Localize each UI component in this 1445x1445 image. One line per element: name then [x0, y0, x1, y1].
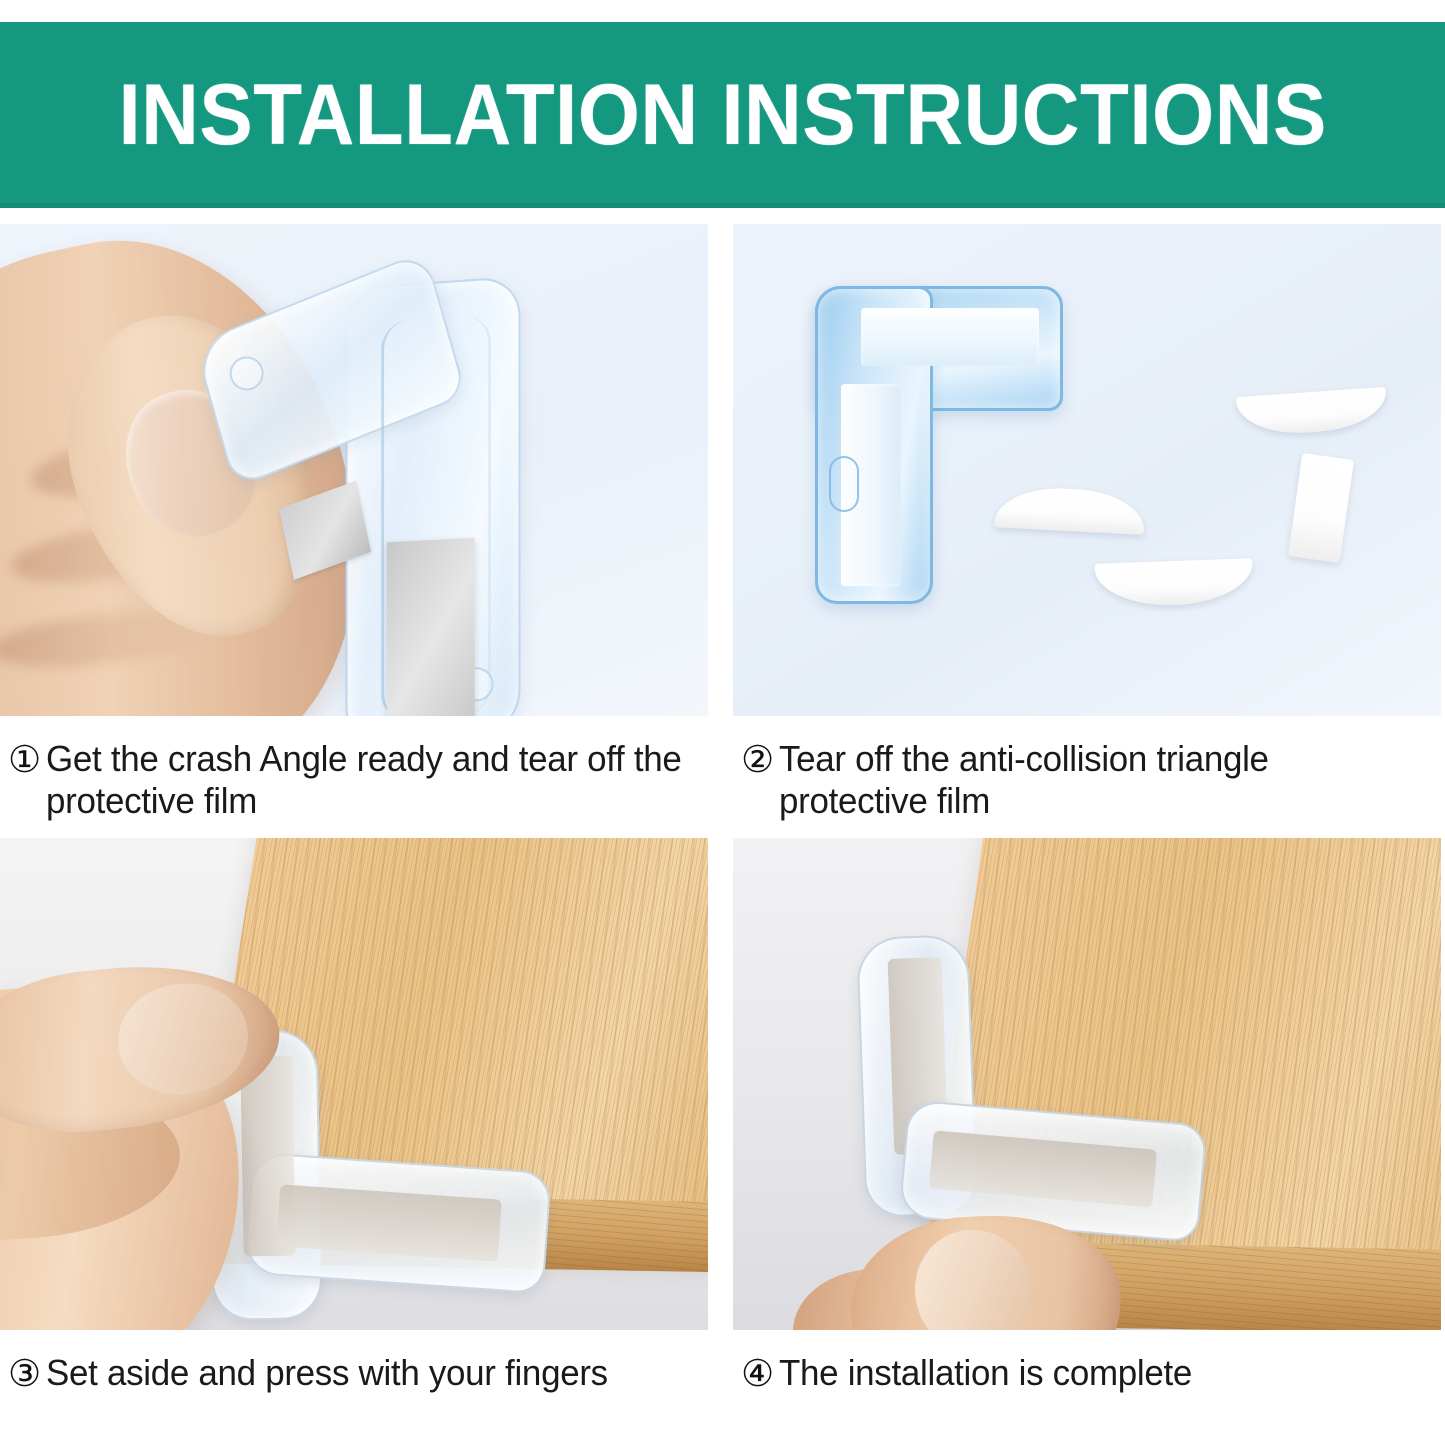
installed-corner-guard [861, 936, 1221, 1256]
step-number-1: ① [8, 738, 41, 782]
step-number-4: ④ [741, 1352, 774, 1396]
peeled-film-strip [1236, 387, 1388, 437]
protective-film-horizontal [861, 308, 1039, 366]
step-number-3: ③ [8, 1352, 41, 1396]
header-banner: INSTALLATION INSTRUCTIONS [0, 22, 1445, 208]
clear-corner-guard [159, 264, 542, 716]
step-4-photo [733, 838, 1441, 1330]
guard-notch [829, 456, 859, 512]
step-2-text: Tear off the anti-collision triangle pro… [779, 738, 1425, 823]
step-1-text: Get the crash Angle ready and tear off t… [46, 738, 692, 823]
peeled-film-strip [1094, 558, 1253, 607]
step-1-caption: ① Get the crash Angle ready and tear off… [0, 716, 716, 823]
step-4-caption: ④ The installation is complete [733, 1330, 1445, 1396]
instruction-sheet: INSTALLATION INSTRUCTIONS [0, 0, 1445, 1445]
step-card-3: ③ Set aside and press with your fingers [0, 838, 708, 1396]
step-3-text: Set aside and press with your fingers [46, 1352, 692, 1394]
step-3-photo [0, 838, 708, 1330]
blue-corner-guard [815, 286, 1065, 606]
step-card-4: ④ The installation is complete [733, 838, 1441, 1396]
clear-corner-guard [210, 1030, 590, 1330]
step-number-2: ② [741, 738, 774, 782]
steps-grid: ① Get the crash Angle ready and tear off… [0, 224, 1445, 1445]
step-1-photo [0, 224, 708, 716]
step-card-2: ② Tear off the anti-collision triangle p… [733, 224, 1441, 823]
adhesive-strip-large [387, 538, 475, 716]
step-2-caption: ② Tear off the anti-collision triangle p… [733, 716, 1445, 823]
step-2-photo [733, 224, 1441, 716]
step-3-caption: ③ Set aside and press with your fingers [0, 1330, 716, 1396]
page-title: INSTALLATION INSTRUCTIONS [118, 72, 1326, 158]
step-4-text: The installation is complete [779, 1352, 1425, 1394]
step-card-1: ① Get the crash Angle ready and tear off… [0, 224, 708, 823]
peeled-film-strip [1288, 453, 1354, 563]
